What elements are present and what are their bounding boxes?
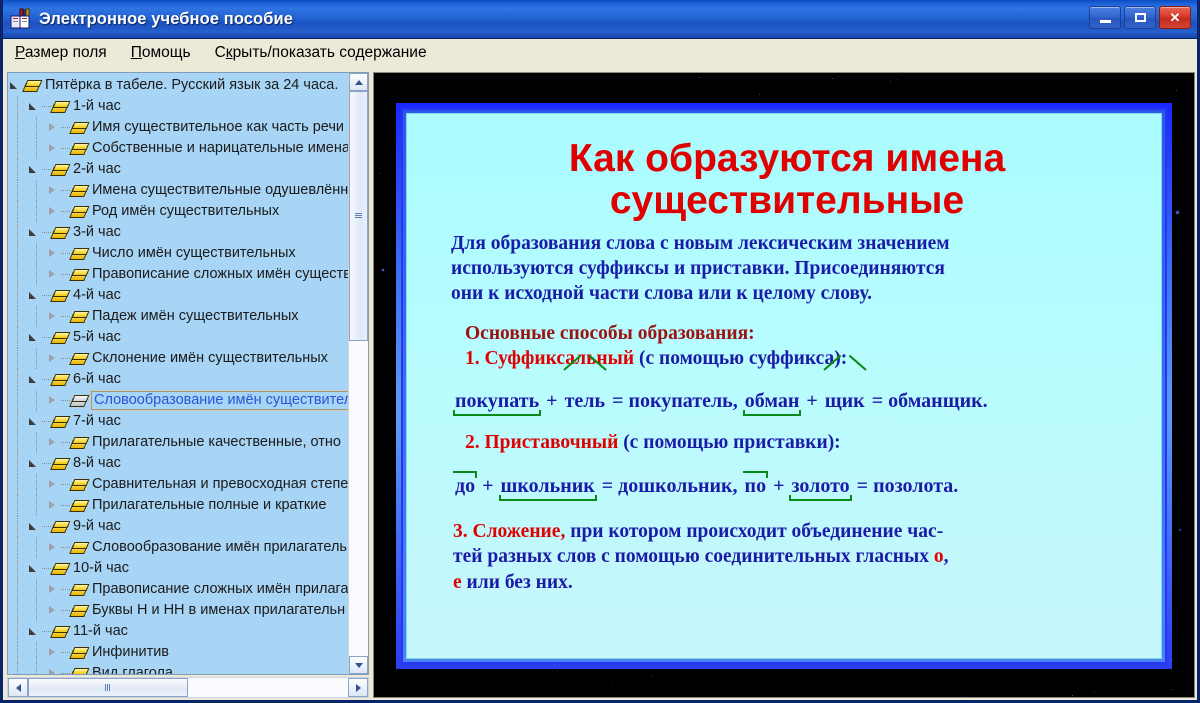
expander-expand-icon[interactable] [46, 142, 59, 155]
tree-node-label: Сравнительная и превосходная степе [92, 475, 348, 494]
tree-guide-line [17, 642, 18, 663]
tree-guide-line [36, 663, 37, 674]
tree-indent [8, 453, 27, 474]
tree-connector [61, 442, 70, 443]
suffix-tel: тель [563, 388, 608, 414]
suffix-caret-icon [565, 369, 605, 388]
tree-indent [8, 390, 46, 411]
expander-collapse-icon[interactable] [8, 79, 21, 92]
tree-node-label: Собственные и нарицательные имена [92, 139, 348, 158]
scroll-down-button[interactable] [349, 656, 368, 674]
suffix-tel-text: тель [565, 390, 606, 412]
tree-node[interactable]: 4-й час [8, 285, 348, 306]
tree-guide-line [17, 117, 18, 138]
tree-indent [8, 264, 46, 285]
tree-connector [61, 673, 70, 674]
tree-node[interactable]: Имя существительное как часть речи [8, 117, 348, 138]
tree-guide-line [17, 138, 18, 159]
section-2-paren: (с помощью приставки): [623, 432, 841, 453]
tree-indent [8, 537, 46, 558]
tree-node[interactable]: Словообразование имён прилагатель [8, 537, 348, 558]
tree-node-label: Имена существительные одушевлённые [92, 181, 348, 200]
stem-zoloto: золото [789, 473, 851, 501]
arrow-right-icon [356, 684, 361, 692]
tree-node-selected[interactable]: Словообразование имён существител [8, 390, 348, 411]
tree-connector [61, 274, 70, 275]
book-icon [51, 625, 68, 638]
tree-connector [61, 652, 70, 653]
tree-node[interactable]: 3-й час [8, 222, 348, 243]
suffix-schik-text: щик [825, 390, 865, 412]
tree-node-label: 5-й час [73, 328, 121, 347]
tree-node-label: Правописание сложных имён прилага [92, 580, 348, 599]
star [897, 79, 898, 80]
tree-node-label: Словообразование имён прилагатель [92, 538, 347, 557]
tree-node-label: Прилагательные качественные, отно [92, 433, 341, 452]
tree-node-label: Число имён существительных [92, 244, 296, 263]
expander-collapse-icon[interactable] [27, 163, 40, 176]
tree-node-label: Имя существительное как часть речи [92, 118, 344, 137]
horizontal-scroll-thumb[interactable] [28, 678, 188, 697]
tree-guide-line [17, 432, 18, 453]
tree-node-label: Прилагательные полные и краткие [92, 496, 326, 515]
tree-connector [42, 568, 51, 569]
section-3-text-c: или без них. [462, 572, 573, 593]
tree-guide-line [36, 117, 37, 138]
grip-icon [105, 684, 111, 691]
book-icon [70, 247, 87, 260]
maximize-icon [1135, 13, 1146, 22]
tree-node[interactable]: Род имён существительных [8, 201, 348, 222]
tree-node-label: Род имён существительных [92, 202, 279, 221]
arrow-up-icon [355, 80, 363, 85]
menu-razmer-polya[interactable]: Размер поля [13, 42, 118, 64]
star [1179, 529, 1181, 531]
star [961, 697, 963, 698]
slide-frame-inner: Как образуются имена существительные Для… [401, 108, 1167, 664]
book-icon [51, 520, 68, 533]
tree-connector [42, 337, 51, 338]
tree-guide-line [36, 432, 37, 453]
tree-node[interactable]: Собственные и нарицательные имена [8, 138, 348, 159]
stem-shkolnik: школьник [499, 473, 597, 501]
scroll-right-button[interactable] [348, 678, 368, 697]
tree-indent [8, 663, 46, 674]
tree-node-label: Вид глагола [92, 664, 173, 674]
tree-guide-line [17, 285, 18, 306]
tree-connector [61, 316, 70, 317]
tree-node[interactable]: 10-й час [8, 558, 348, 579]
expander-collapse-icon[interactable] [27, 331, 40, 344]
stem-obman: обман [743, 388, 802, 416]
expander-expand-icon[interactable] [46, 436, 59, 449]
star [1176, 90, 1177, 91]
tree-guide-line [17, 516, 18, 537]
tree-node-label: Правописание сложных имён существ [92, 265, 348, 284]
tree-node[interactable]: Сравнительная и превосходная степе [8, 474, 348, 495]
tree-guide-line [17, 579, 18, 600]
expander-expand-icon[interactable] [46, 352, 59, 365]
star [557, 671, 558, 672]
expander-expand-icon[interactable] [46, 394, 59, 407]
section-3-comma: , [944, 546, 949, 567]
tree-guide-line [36, 600, 37, 621]
tree-node-label: 4-й час [73, 286, 121, 305]
arrow-down-icon [355, 663, 363, 668]
tree-node-label: 10-й час [73, 559, 129, 578]
tree-guide-line [17, 348, 18, 369]
tree-indent [8, 117, 46, 138]
tree-guide-line [17, 264, 18, 285]
methods-heading-text: Основные способы образования: [465, 323, 755, 344]
vertical-scroll-thumb[interactable] [349, 91, 368, 341]
expander-expand-icon[interactable] [46, 541, 59, 554]
tree-indent [8, 579, 46, 600]
tree-node[interactable]: Имена существительные одушевлённые [8, 180, 348, 201]
tree-node[interactable]: 5-й час [8, 327, 348, 348]
tree-connector [42, 169, 51, 170]
tree-node-label: 2-й час [73, 160, 121, 179]
tree-indent [8, 474, 46, 495]
tree-guide-line [36, 138, 37, 159]
tree-indent [8, 558, 27, 579]
tree-node-label: 8-й час [73, 454, 121, 473]
tree-node-label: Инфинитив [92, 643, 169, 662]
book-icon [10, 8, 32, 30]
book-icon [70, 583, 87, 596]
tree-indent [8, 411, 27, 432]
tree-guide-line [17, 558, 18, 579]
star [1176, 211, 1179, 214]
tree-guide-line [17, 621, 18, 642]
tree-connector [42, 631, 51, 632]
tree-guide-line [17, 201, 18, 222]
section-2-formula: до + школьник = дошкольник, по + золото … [453, 471, 1133, 501]
tree-node[interactable]: 11-й час [8, 621, 348, 642]
book-icon [51, 415, 68, 428]
tree-indent [8, 600, 46, 621]
expander-expand-icon[interactable] [46, 184, 59, 197]
tree-node[interactable]: 2-й час [8, 159, 348, 180]
tree-guide-line [17, 96, 18, 117]
tree-node-label: 3-й час [73, 223, 121, 242]
menu-pomosch[interactable]: Помощь [129, 42, 202, 64]
tree-node-label: 9-й час [73, 517, 121, 536]
tree-node[interactable]: Буквы Н и НН в именах прилагательн [8, 600, 348, 621]
book-icon [70, 394, 87, 407]
slide-content: Как образуются имена существительные Для… [406, 113, 1162, 659]
close-icon: ✕ [1170, 11, 1181, 24]
vertical-scroll-track[interactable] [349, 91, 368, 656]
section-3-number: 3. Сложение, [453, 521, 565, 542]
book-icon [51, 100, 68, 113]
tree-node[interactable]: Число имён существительных [8, 243, 348, 264]
tree-connector [61, 484, 70, 485]
tree-guide-line [17, 663, 18, 674]
book-icon [51, 163, 68, 176]
slide-frame: Как образуются имена существительные Для… [396, 103, 1172, 669]
star [699, 77, 700, 78]
minimize-icon [1100, 20, 1111, 23]
tree-connector [42, 106, 51, 107]
tree-node-label: Пятёрка в табеле. Русский язык за 24 час… [45, 76, 338, 95]
tree-guide-line [36, 390, 37, 411]
window-title: Электронное учебное пособие [39, 10, 293, 29]
expander-collapse-icon[interactable] [27, 457, 40, 470]
tree-node[interactable]: 6-й час [8, 369, 348, 390]
star [1094, 692, 1095, 693]
result-2: = обманщик. [867, 390, 988, 412]
tree-node[interactable]: Прилагательные качественные, отно [8, 432, 348, 453]
expander-expand-icon[interactable] [46, 268, 59, 281]
result-3: = дошкольник, [597, 475, 743, 497]
tree-view[interactable]: Пятёрка в табеле. Русский язык за 24 час… [7, 72, 369, 675]
tree-node[interactable]: Склонение имён существительных [8, 348, 348, 369]
tree-indent [8, 348, 46, 369]
star [890, 81, 891, 82]
tree-connector [61, 400, 70, 401]
book-icon [70, 667, 87, 674]
vowel-e: е [453, 572, 462, 593]
tree-node-label: Падеж имён существительных [92, 307, 299, 326]
tree-connector [42, 232, 51, 233]
star [651, 676, 652, 677]
tree-node[interactable]: Правописание сложных имён прилага [8, 579, 348, 600]
tree-guide-line [36, 180, 37, 201]
expander-expand-icon[interactable] [46, 478, 59, 491]
tree-node[interactable]: Прилагательные полные и краткие [8, 495, 348, 516]
tree-indent [8, 327, 27, 348]
book-icon [51, 289, 68, 302]
star [382, 269, 384, 271]
tree-indent [8, 495, 46, 516]
tree-node-label: 6-й час [73, 370, 121, 389]
tree-indent [8, 159, 27, 180]
arrow-left-icon [16, 684, 21, 692]
stem-pokupat: покупать [453, 388, 541, 416]
book-icon [70, 352, 87, 365]
tree-guide-line [36, 495, 37, 516]
expander-expand-icon[interactable] [46, 247, 59, 260]
tree-indent [8, 243, 46, 264]
tree-indent [8, 96, 27, 117]
star [611, 683, 612, 684]
tree-connector [61, 211, 70, 212]
plus-sign-3: + [477, 475, 498, 497]
tree-guide-line [17, 243, 18, 264]
tree-connector [42, 379, 51, 380]
grip-icon [355, 213, 362, 219]
tree-connector [61, 127, 70, 128]
book-icon [70, 310, 87, 323]
book-icon [51, 226, 68, 239]
book-icon [70, 541, 87, 554]
star [1172, 689, 1173, 690]
book-icon [70, 184, 87, 197]
expander-expand-icon[interactable] [46, 121, 59, 134]
book-icon [51, 331, 68, 344]
expander-collapse-icon[interactable] [27, 289, 40, 302]
tree-guide-line [36, 264, 37, 285]
tree-connector [42, 463, 51, 464]
section-1-formula: покупать + тель = покупатель, обман + щи… [453, 388, 1133, 416]
tree-guide-line [17, 159, 18, 180]
tree-guide-line [17, 327, 18, 348]
tree-guide-line [17, 453, 18, 474]
expander-collapse-icon[interactable] [27, 415, 40, 428]
tree-vertical-scrollbar[interactable] [348, 73, 368, 674]
tree-indent [8, 138, 46, 159]
tree-node[interactable]: Инфинитив [8, 642, 348, 663]
slide-viewer[interactable]: Как образуются имена существительные Для… [373, 72, 1195, 698]
expander-expand-icon[interactable] [46, 499, 59, 512]
tree-node[interactable]: Вид глагола [8, 663, 348, 674]
star [1172, 660, 1173, 661]
tree-connector [61, 589, 70, 590]
result-4: = позолота. [852, 475, 959, 497]
tree-guide-line [36, 201, 37, 222]
scroll-up-button[interactable] [349, 73, 368, 91]
tree-indent [8, 180, 46, 201]
tree-connector [61, 190, 70, 191]
book-icon [70, 499, 87, 512]
tree-indent [8, 621, 27, 642]
tree-node[interactable]: Пятёрка в табеле. Русский язык за 24 час… [8, 75, 348, 96]
tree-guide-line [17, 537, 18, 558]
section-3-paragraph: 3. Сложение, при котором происходит объе… [453, 519, 1133, 595]
book-icon [70, 646, 87, 659]
plus-sign-1: + [541, 390, 562, 412]
tree-connector [61, 358, 70, 359]
tree-node[interactable]: 9-й час [8, 516, 348, 537]
tree-node[interactable]: Падеж имён существительных [8, 306, 348, 327]
plus-sign-2: + [801, 390, 822, 412]
tree-connector [61, 148, 70, 149]
vowel-o: о [934, 546, 944, 567]
slide-intro-paragraph: Для образования слова с новым лексически… [451, 232, 1133, 307]
expander-expand-icon[interactable] [46, 310, 59, 323]
tree-connector [42, 526, 51, 527]
suffix-schik: щик [823, 388, 867, 414]
expander-collapse-icon[interactable] [27, 373, 40, 386]
tree-node-label: Буквы Н и НН в именах прилагательн [92, 601, 345, 620]
tree-node[interactable]: Правописание сложных имён существ [8, 264, 348, 285]
tree-connector [42, 295, 51, 296]
tree-guide-line [17, 600, 18, 621]
book-icon [23, 79, 40, 92]
application-window: Электронное учебное пособие ✕ Размер пол… [0, 0, 1200, 703]
expander-expand-icon[interactable] [46, 583, 59, 596]
suffix-caret-icon [825, 369, 865, 388]
section-3-text-b: тей разных слов с помощью соединительных… [453, 546, 934, 567]
section-1-number: 1. Суффиксальный [465, 348, 634, 369]
book-icon [70, 604, 87, 617]
window-controls: ✕ [1089, 6, 1191, 29]
book-icon [51, 373, 68, 386]
book-icon [70, 121, 87, 134]
tree-node[interactable]: 1-й час [8, 96, 348, 117]
tree-guide-line [17, 180, 18, 201]
section-3-text-a: при котором происходит объединение час- [565, 521, 943, 542]
book-icon [51, 562, 68, 575]
star [394, 530, 395, 531]
star [1072, 695, 1073, 696]
horizontal-scroll-track[interactable] [28, 678, 348, 697]
expander-collapse-icon[interactable] [27, 100, 40, 113]
book-icon [51, 457, 68, 470]
slide-title: Как образуются имена существительные [441, 138, 1133, 222]
star [1178, 671, 1179, 672]
maximize-button[interactable] [1124, 6, 1156, 29]
close-button[interactable]: ✕ [1159, 6, 1191, 29]
tree-guide-line [36, 243, 37, 264]
tree-node-list: Пятёрка в табеле. Русский язык за 24 час… [8, 73, 348, 674]
tree-guide-line [36, 537, 37, 558]
book-icon [70, 142, 87, 155]
expander-collapse-icon[interactable] [27, 562, 40, 575]
prefix-po: по [743, 471, 769, 499]
contents-pane: Пятёрка в табеле. Русский язык за 24 час… [7, 72, 369, 698]
expander-collapse-icon[interactable] [27, 226, 40, 239]
expander-collapse-icon[interactable] [27, 625, 40, 638]
star [759, 94, 760, 95]
book-icon [70, 436, 87, 449]
book-icon [70, 205, 87, 218]
expander-expand-icon[interactable] [46, 604, 59, 617]
expander-expand-icon[interactable] [46, 205, 59, 218]
scroll-left-button[interactable] [8, 678, 28, 697]
menu-bar: Размер поляПомощьСкрыть/показать содержа… [3, 39, 1197, 68]
tree-indent [8, 369, 27, 390]
expander-expand-icon[interactable] [46, 646, 59, 659]
section-2-heading: 2. Приставочный (с помощью приставки): [465, 430, 1133, 455]
tree-node[interactable]: 7-й час [8, 411, 348, 432]
menu-skryt-pokazat[interactable]: Скрыть/показать содержание [213, 42, 438, 64]
tree-node[interactable]: 8-й час [8, 453, 348, 474]
tree-guide-line [17, 495, 18, 516]
tree-horizontal-scrollbar[interactable] [7, 677, 369, 698]
result-1: = покупатель, [607, 390, 743, 412]
section-1-paren: (с помощью суффикса): [639, 348, 847, 369]
star [832, 78, 833, 79]
prefix-do: до [453, 471, 477, 499]
tree-node-label: 11-й час [73, 622, 128, 641]
tree-guide-line [17, 306, 18, 327]
section-2-number: 2. Приставочный [465, 432, 618, 453]
expander-collapse-icon[interactable] [27, 520, 40, 533]
minimize-button[interactable] [1089, 6, 1121, 29]
tree-guide-line [36, 474, 37, 495]
tree-indent [8, 516, 27, 537]
expander-expand-icon[interactable] [46, 667, 59, 674]
tree-indent [8, 285, 27, 306]
tree-guide-line [17, 411, 18, 432]
tree-node-label: Словообразование имён существител [91, 391, 348, 410]
tree-indent [8, 222, 27, 243]
tree-guide-line [36, 306, 37, 327]
book-icon [70, 478, 87, 491]
tree-node-label: 7-й час [73, 412, 121, 431]
tree-guide-line [17, 222, 18, 243]
plus-sign-4: + [768, 475, 789, 497]
content-area: Пятёрка в табеле. Русский язык за 24 час… [3, 68, 1197, 700]
tree-connector [61, 505, 70, 506]
tree-connector [61, 547, 70, 548]
tree-node-label: 1-й час [73, 97, 121, 116]
title-bar: Электронное учебное пособие ✕ [3, 0, 1197, 39]
tree-guide-line [17, 474, 18, 495]
methods-heading: Основные способы образования: [465, 321, 1133, 346]
